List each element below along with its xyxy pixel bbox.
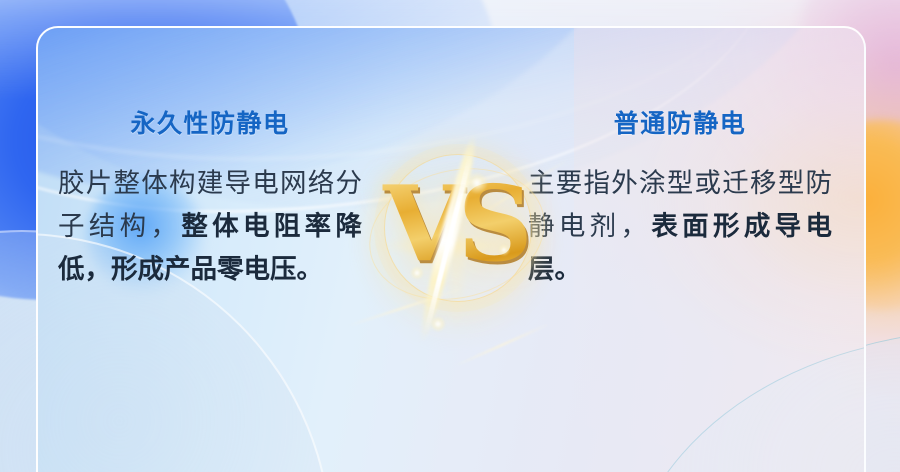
left-column-heading: 永久性防静电 bbox=[50, 104, 370, 140]
left-column-body: 胶片整体构建导电网络分子结构，整体电阻率降低，形成产品零电压。 bbox=[50, 162, 370, 291]
vs-sparkle-a bbox=[466, 172, 488, 194]
vs-sparkle-d bbox=[430, 316, 446, 332]
comparison-banner: 永久性防静电 胶片整体构建导电网络分子结构，整体电阻率降低，形成产品零电压。 普… bbox=[0, 0, 900, 472]
vs-sparkle-c bbox=[498, 244, 510, 256]
vs-sparkle-b bbox=[410, 266, 424, 280]
column-permanent-antistatic: 永久性防静电 胶片整体构建导电网络分子结构，整体电阻率降低，形成产品零电压。 bbox=[50, 26, 370, 291]
vs-emblem: VS bbox=[370, 148, 540, 348]
